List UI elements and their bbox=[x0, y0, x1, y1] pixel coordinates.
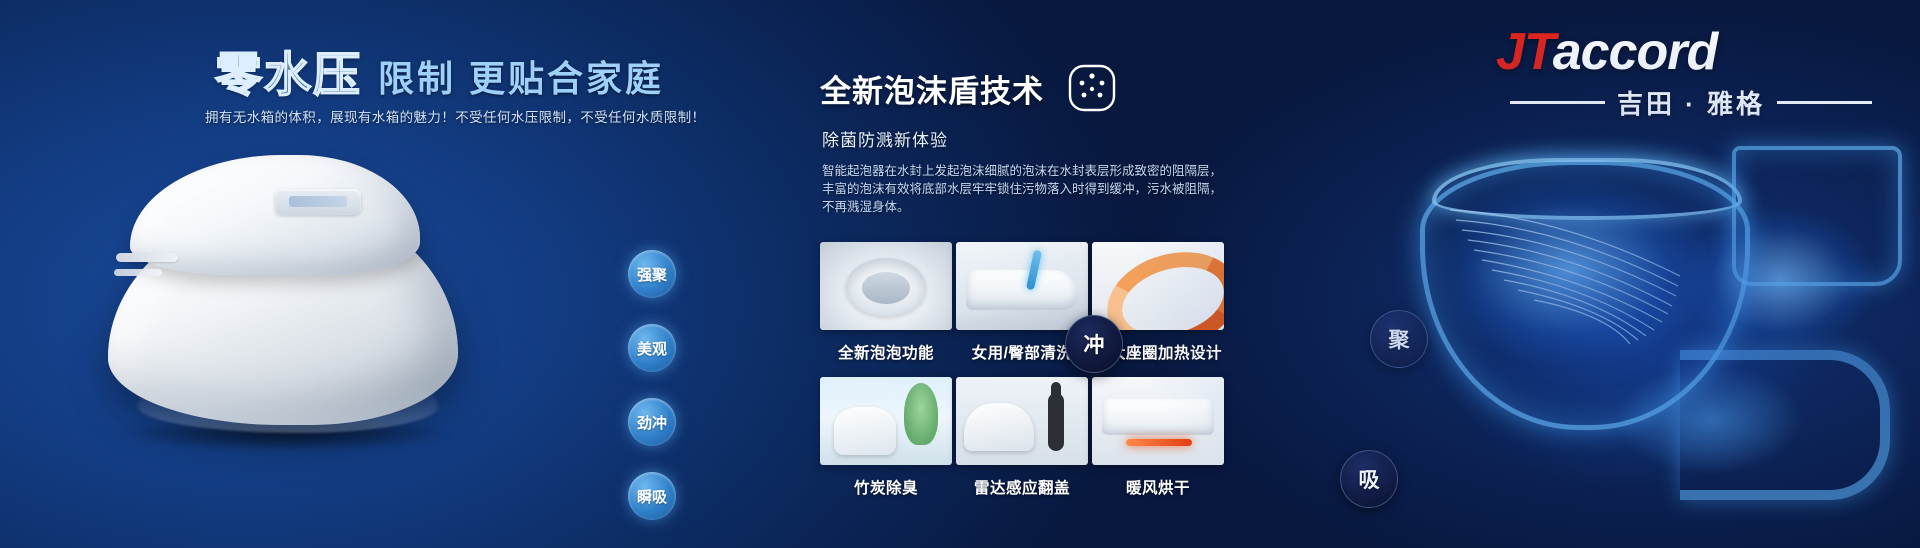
body-line-2: 丰富的泡沫有效将底部水层牢牢锁住污物落入时得到缓冲，污水被阻隔， bbox=[822, 180, 1252, 198]
middle-title: 全新泡沫盾技术 bbox=[820, 66, 1044, 111]
callout-ju: 聚 bbox=[1370, 310, 1428, 368]
feature-grid: 全新泡泡功能 女用/臀部清洗 超大座圈加热设计 竹炭除臭 雷达感应翻盖 暖风烘干 bbox=[820, 242, 1224, 512]
right-panel: JTaccord 吉田 · 雅格 冲 bbox=[1460, 0, 1920, 548]
logo-accord: accord bbox=[1553, 23, 1718, 81]
logo-rule-right bbox=[1777, 101, 1872, 104]
body-line-1: 智能起泡器在水封上发起泡沫细腻的泡沫在水封表层形成致密的阻隔层， bbox=[822, 162, 1252, 180]
headline-main: 零水压 bbox=[215, 36, 362, 105]
badge-jingchong: 劲冲 bbox=[628, 398, 676, 446]
logo-wordmark: JTaccord bbox=[1496, 22, 1886, 82]
control-panel-icon bbox=[275, 189, 361, 215]
xray-water-streaks bbox=[1440, 180, 1740, 380]
warm-air-dryer-thumb bbox=[1092, 377, 1224, 465]
brand-logo[interactable]: JTaccord 吉田 · 雅格 bbox=[1496, 22, 1886, 121]
body-line-3: 不再溅湿身体。 bbox=[822, 198, 1252, 216]
bowl-foam-thumb bbox=[820, 242, 952, 330]
badge-column: 强聚 美观 劲冲 瞬吸 bbox=[628, 250, 676, 546]
product-photo bbox=[90, 135, 470, 445]
feature-caption: 全新泡泡功能 bbox=[820, 341, 952, 363]
callout-chong: 冲 bbox=[1065, 315, 1123, 373]
logo-chinese-name: 吉田 · 雅格 bbox=[1617, 84, 1765, 121]
logo-rule-left bbox=[1510, 101, 1605, 104]
feature-caption: 雷达感应翻盖 bbox=[956, 476, 1088, 498]
heated-seat-ring-thumb bbox=[1092, 242, 1224, 330]
middle-heading-row: 全新泡沫盾技术 bbox=[820, 62, 1118, 114]
feature-caption: 竹炭除臭 bbox=[820, 476, 952, 498]
left-panel: 零水压 限制 更贴合家庭 拥有无水箱的体积，展现有水箱的魅力！不受任何水压限制，… bbox=[0, 0, 660, 548]
radar-sensor-lid-thumb bbox=[956, 377, 1088, 465]
logo-jt: JT bbox=[1496, 23, 1553, 81]
toilet-side-button-2 bbox=[114, 269, 162, 276]
bamboo-charcoal-thumb bbox=[820, 377, 952, 465]
badge-qiangju: 强聚 bbox=[628, 250, 676, 298]
logo-divider-row: 吉田 · 雅格 bbox=[1496, 84, 1886, 121]
xray-tank-outline bbox=[1732, 146, 1902, 286]
feature-cell[interactable]: 竹炭除臭 bbox=[820, 377, 952, 512]
badge-shunxi: 瞬吸 bbox=[628, 472, 676, 520]
middle-body-text: 智能起泡器在水封上发起泡沫细腻的泡沫在水封表层形成致密的阻隔层， 丰富的泡沫有效… bbox=[822, 162, 1252, 216]
callout-xi: 吸 bbox=[1340, 450, 1398, 508]
badge-meiguan: 美观 bbox=[628, 324, 676, 372]
promo-banner: 零水压 限制 更贴合家庭 拥有无水箱的体积，展现有水箱的魅力！不受任何水压限制，… bbox=[0, 0, 1920, 548]
toilet-side-button-1 bbox=[116, 253, 178, 262]
feature-caption: 暖风烘干 bbox=[1092, 476, 1224, 498]
headline-fineprint: 拥有无水箱的体积，展现有水箱的魅力！不受任何水压限制，不受任何水质限制！ bbox=[205, 106, 705, 126]
feature-cell[interactable]: 全新泡泡功能 bbox=[820, 242, 952, 377]
bubble-shield-icon bbox=[1066, 62, 1118, 114]
wash-nozzle-thumb bbox=[956, 242, 1088, 330]
headline: 零水压 限制 更贴合家庭 bbox=[215, 36, 664, 105]
feature-cell[interactable]: 雷达感应翻盖 bbox=[956, 377, 1088, 512]
feature-cell[interactable]: 暖风烘干 bbox=[1092, 377, 1224, 512]
toilet-xray-flow-diagram: 冲 聚 吸 bbox=[1380, 120, 1920, 520]
middle-subtitle: 除菌防溅新体验 bbox=[822, 126, 948, 151]
headline-sub: 限制 更贴合家庭 bbox=[378, 50, 664, 105]
